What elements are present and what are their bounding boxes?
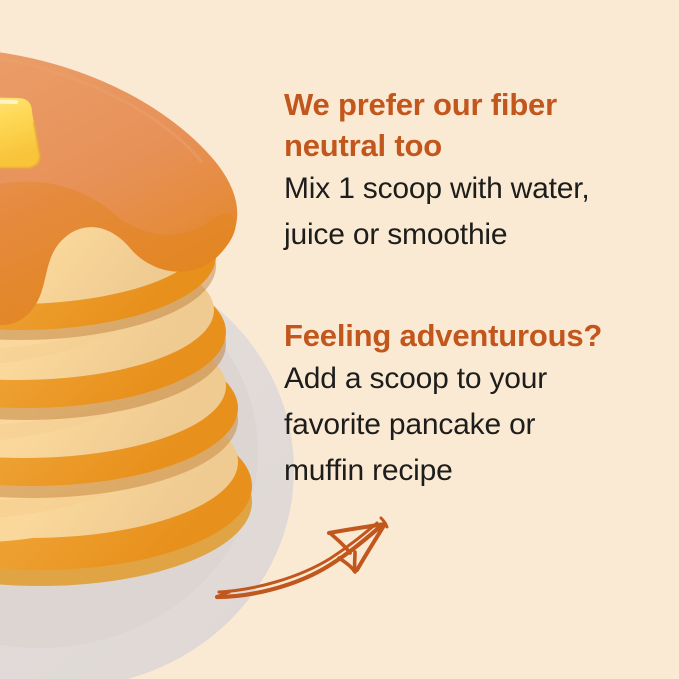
copy-block-adventurous: Feeling adventurous? Add a scoop to your… (284, 315, 674, 494)
body-line: Add a scoop to your (284, 356, 674, 402)
promo-card: We prefer our fiber neutral too Mix 1 sc… (0, 0, 679, 679)
headline-feeling-adventurous: Feeling adventurous? (284, 315, 674, 356)
body-line: juice or smoothie (284, 212, 674, 258)
body-recipe-instructions: Add a scoop to your favorite pancake or … (284, 356, 674, 494)
body-line: Mix 1 scoop with water, (284, 166, 674, 212)
copy-block-mixing: We prefer our fiber neutral too Mix 1 sc… (284, 84, 674, 258)
headline-line: We prefer our fiber (284, 84, 674, 125)
body-line: muffin recipe (284, 448, 674, 494)
body-line: favorite pancake or (284, 402, 674, 448)
headline-fiber-neutral: We prefer our fiber neutral too (284, 84, 674, 166)
headline-line: neutral too (284, 125, 674, 166)
headline-line: Feeling adventurous? (284, 315, 674, 356)
body-mixing-instructions: Mix 1 scoop with water, juice or smoothi… (284, 166, 674, 258)
hand-drawn-curved-arrow-icon (205, 500, 410, 625)
